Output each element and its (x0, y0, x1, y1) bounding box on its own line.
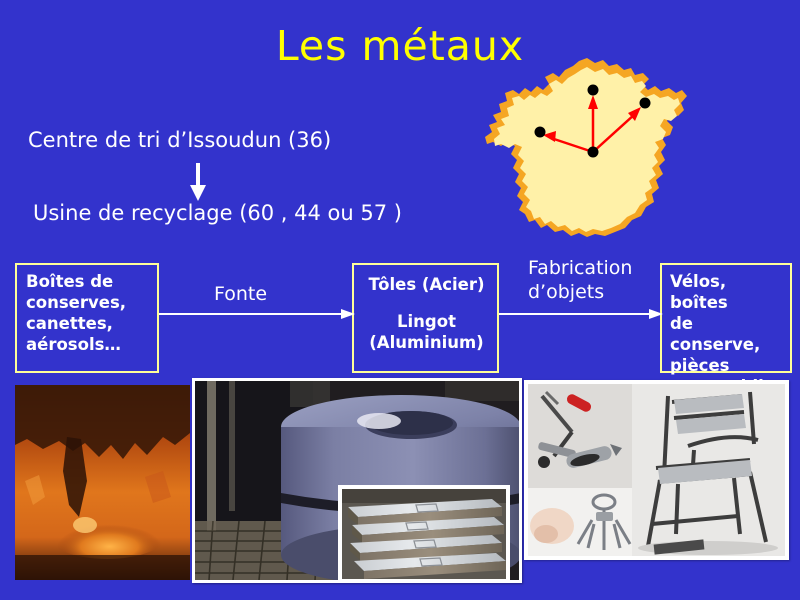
box-middle-line-1: Tôles (Acier) (363, 274, 490, 295)
fonte-label: Fonte (214, 282, 267, 306)
process-box-input: Boîtes de conserves, canettes, aérosols… (15, 263, 159, 373)
box-output-line-2: de conserve, (670, 313, 783, 355)
france-map (483, 52, 698, 244)
box-input-line-4: aérosols… (26, 334, 150, 355)
recycling-plant-label: Usine de recyclage (60 , 44 ou 57 ) (33, 200, 402, 226)
box-middle-line-2: Lingot (363, 311, 490, 332)
box-input-line-3: canettes, (26, 313, 150, 334)
aluminium-ingots-photo (338, 485, 510, 583)
process-box-middle: Tôles (Acier) Lingot (Aluminium) (352, 263, 499, 373)
box-output-line-1: Vélos, boîtes (670, 271, 783, 313)
fabrication-label-line-2: d’objets (528, 280, 632, 304)
sorting-center-label: Centre de tri d’Issoudun (36) (28, 127, 331, 153)
fabrication-arrow-icon (499, 305, 663, 317)
process-box-output: Vélos, boîtes de conserve, pièces automo… (660, 263, 792, 373)
fabrication-label: Fabrication d’objets (528, 256, 632, 304)
box-input-line-1: Boîtes de (26, 271, 150, 292)
molten-metal-photo (15, 385, 190, 580)
down-arrow-icon (186, 163, 210, 203)
box-input-line-2: conserves, (26, 292, 150, 313)
fonte-arrow-icon (159, 305, 355, 317)
fonte-label-line-1: Fonte (214, 282, 267, 306)
box-output-line-3: pièces (670, 355, 783, 376)
box-middle-line-3: (Aluminium) (363, 332, 490, 353)
slide-canvas: Les métaux Centre de tri d’Issoudun (36)… (0, 0, 800, 600)
metal-objects-photo (524, 380, 789, 560)
fabrication-label-line-1: Fabrication (528, 256, 632, 280)
